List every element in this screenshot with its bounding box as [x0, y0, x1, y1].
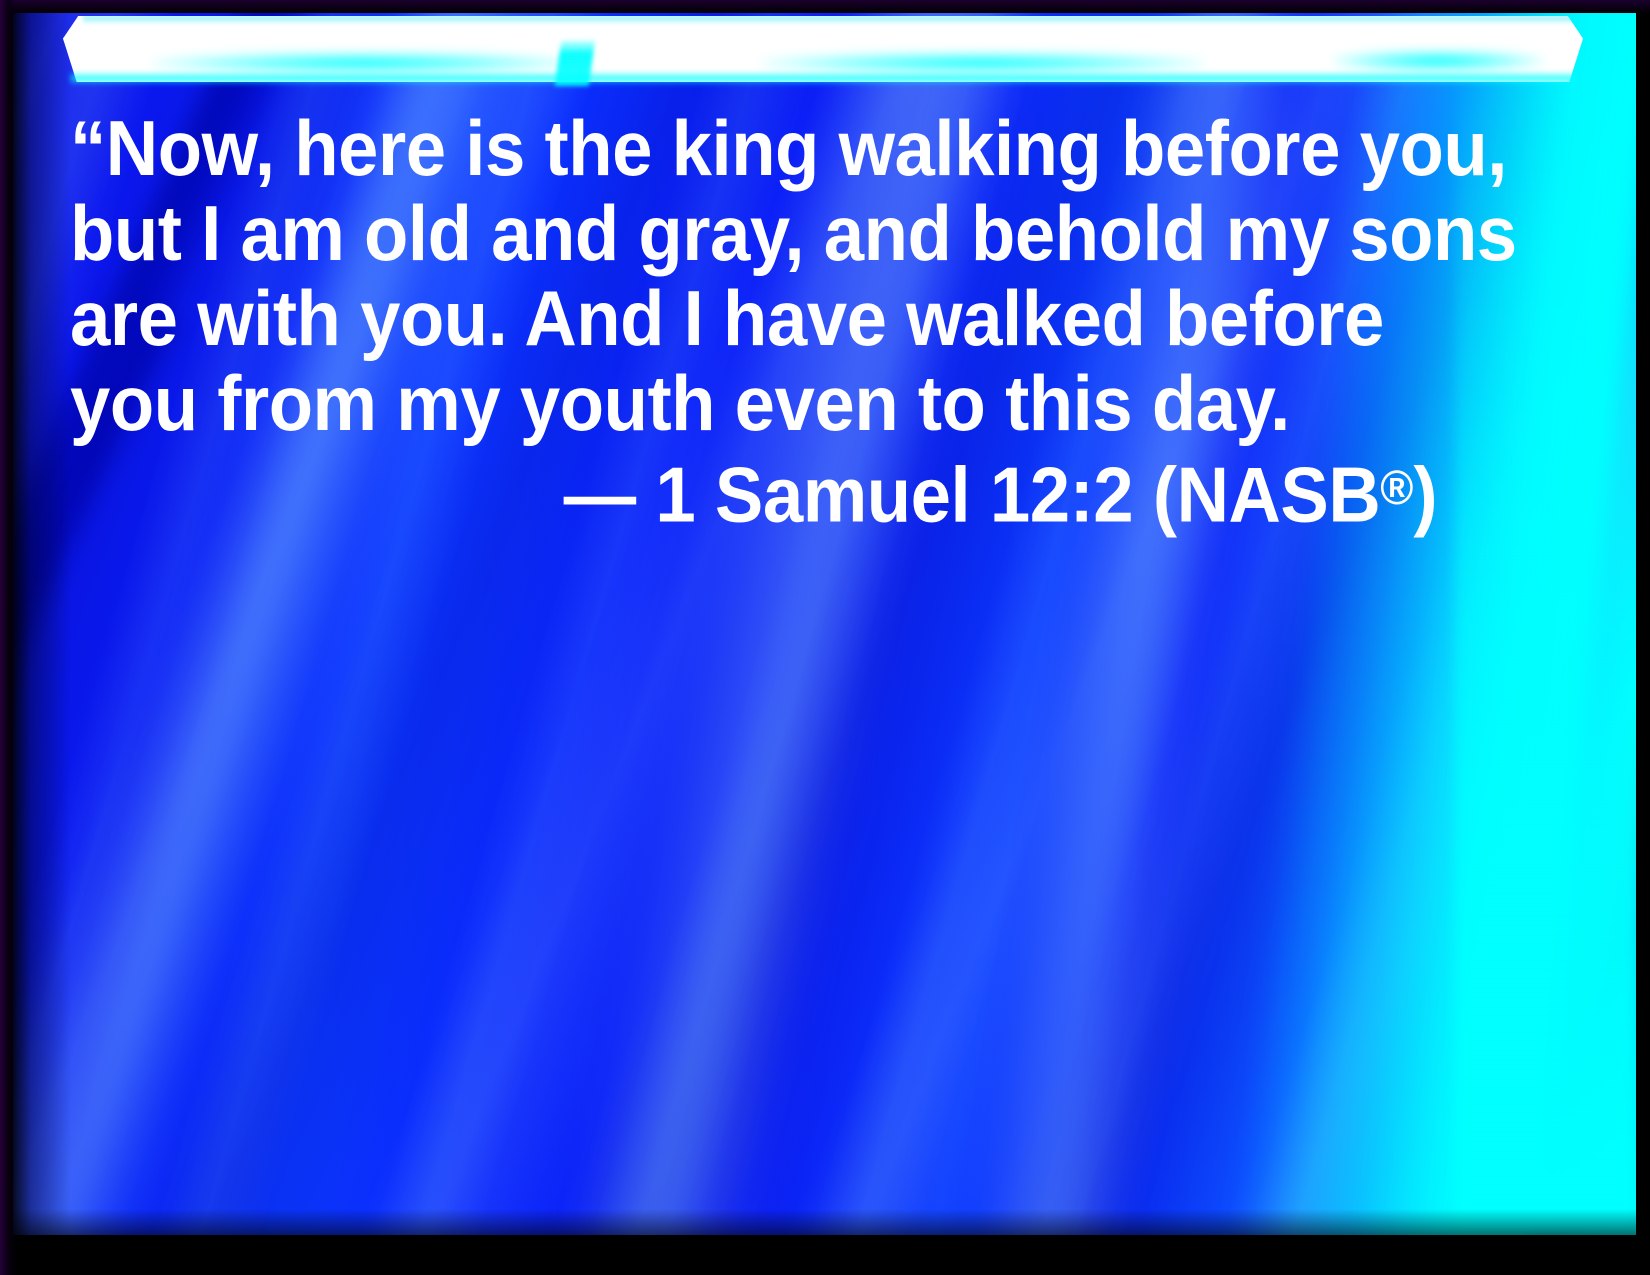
scripture-slide: “Now, here is the king walking before yo…: [0, 0, 1650, 1275]
left-edge-shade: [13, 13, 73, 1235]
verse-line-4: you from my youth even to this day.: [70, 361, 1446, 446]
banner-cyan-blob-right: [1333, 50, 1543, 72]
banner-cyan-underlip: [71, 72, 1575, 84]
verse-line-3: are with you. And I have walked before: [70, 276, 1446, 361]
verse-text-block: “Now, here is the king walking before yo…: [70, 106, 1446, 537]
verse-line-2: but I am old and gray, and behold my son…: [70, 191, 1446, 276]
verse-line-1: “Now, here is the king walking before yo…: [70, 106, 1446, 191]
banner-cyan-blob-center: [763, 52, 1203, 74]
banner-top-haze: [83, 16, 1650, 24]
verse-reference-suffix: ): [1413, 450, 1437, 538]
bottom-edge-shade: [13, 1209, 1636, 1235]
banner-cyan-blob-left: [153, 52, 573, 74]
verse-reference-prefix: — 1 Samuel 12:2 (NASB: [564, 450, 1381, 538]
top-banner-region: [13, 10, 1636, 92]
registered-trademark-icon: ®: [1380, 461, 1413, 515]
verse-reference: — 1 Samuel 12:2 (NASB®): [70, 446, 1446, 537]
